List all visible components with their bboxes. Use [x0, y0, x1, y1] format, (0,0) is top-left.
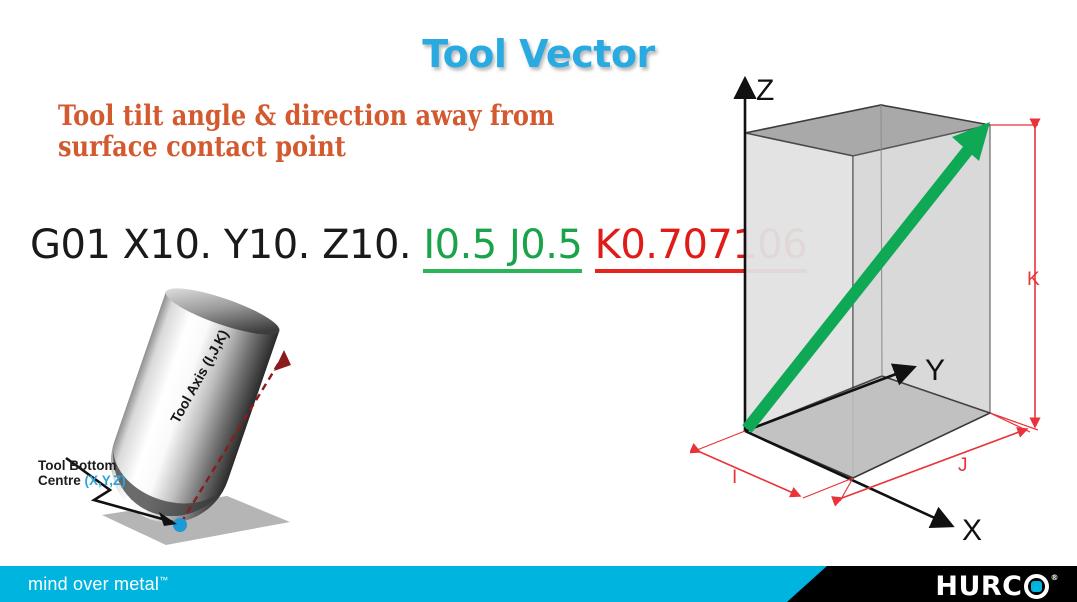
dimension-k-label: K: [1027, 269, 1040, 290]
axis-z-label: Z: [756, 74, 774, 107]
hurco-o-icon: [1024, 574, 1049, 599]
tool-bottom-xyz: (X,Y,Z): [85, 473, 126, 488]
box-svg: Z Y X I: [690, 58, 1077, 558]
hurco-registered-mark: ®: [1051, 573, 1060, 582]
subtitle-text: Tool tilt angle & direction away from su…: [58, 100, 608, 163]
tagline: mind over metal™: [28, 574, 168, 595]
axis-x-label: X: [962, 514, 982, 547]
dimension-i-label: I: [732, 467, 737, 488]
hurco-wordmark: HURC: [935, 571, 1022, 602]
tool-bottom-centre-label: Tool Bottom Centre (X,Y,Z): [38, 458, 126, 489]
tool-illustration: [18, 268, 368, 558]
vector-box-diagram: Z Y X I: [690, 58, 1077, 558]
dimension-j-label: J: [958, 455, 968, 476]
slide-canvas: Tool Vector Tool tilt angle & direction …: [0, 0, 1077, 602]
tool-bottom-line2: Centre: [38, 473, 85, 488]
footer-bar: mind over metal™ HURC ®: [0, 566, 1077, 602]
axis-y-label: Y: [925, 354, 945, 387]
hurco-logo: HURC ®: [935, 571, 1059, 602]
tool-contact-point: [173, 518, 187, 532]
tagline-trademark: ™: [159, 575, 168, 585]
gcode-ij-values: I0.5 J0.5: [423, 222, 582, 273]
tool-bottom-line1: Tool Bottom: [38, 458, 116, 473]
gcode-linear-move: G01 X10. Y10. Z10.: [30, 222, 411, 268]
tool-svg: [18, 268, 368, 558]
tagline-text: mind over metal: [28, 574, 159, 594]
hurco-o-core: [1031, 581, 1042, 592]
